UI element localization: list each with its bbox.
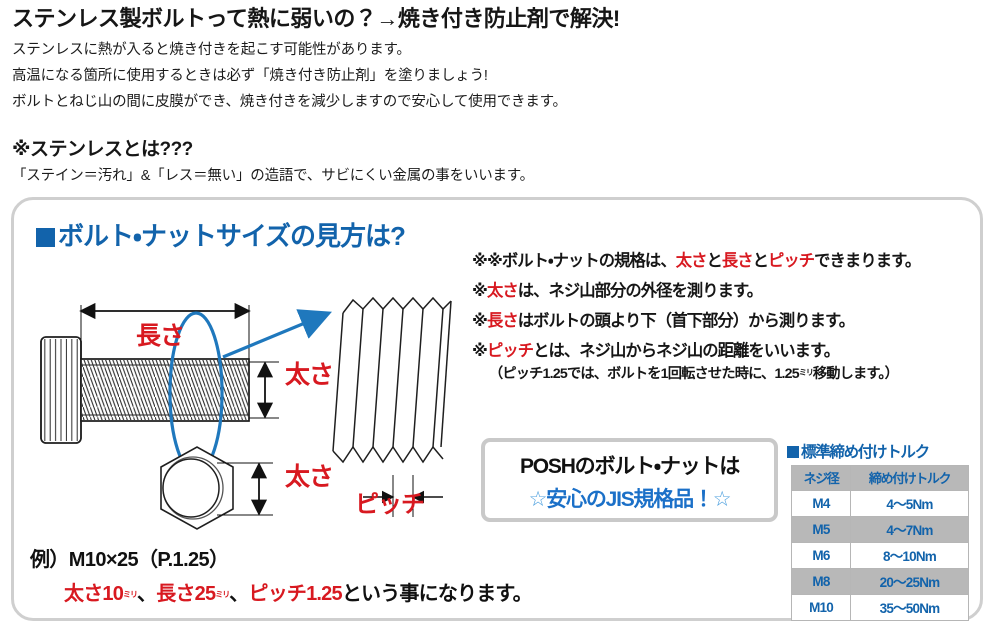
- example-thickness: 太さ10: [64, 583, 123, 605]
- torque-caption-label: 標準締め付けトルク: [801, 444, 929, 461]
- page-title: ステンレス製ボルトって熱に弱いの？→焼き付き防止剤で解決!: [12, 6, 987, 31]
- label-pitch: ピッチ: [355, 484, 424, 519]
- panel-title: ボルト・ナットサイズの見方は?: [36, 216, 405, 253]
- intro-paragraph-1: ステンレスに熱が入ると焼き付きを起こす可能性があります。: [12, 41, 987, 60]
- bullet-item-4-note: （ピッチ1.25では、ボルトを1回転させた時に、1.25ミリ移動します。）: [489, 367, 987, 383]
- example-block: 例）M10×25（P.1.25） 太さ10ミリ、長さ25ミリ、ピッチ1.25とい…: [30, 543, 532, 606]
- example-line-2: 太さ10ミリ、長さ25ミリ、ピッチ1.25という事になります。: [64, 577, 532, 606]
- example-length-unit: ミリ: [215, 590, 229, 599]
- bullet-4-text: とは、ネジ山からネジ山の距離をいいます。: [533, 342, 839, 360]
- cell-torque: 4〜5Nm: [851, 491, 969, 517]
- bullet-1-text-a: ※ボルト・ナットの規格は、: [487, 252, 676, 270]
- cell-size: M4: [792, 491, 851, 517]
- bullet-3-red-length: 長さ: [487, 312, 518, 330]
- torque-table-block: 標準締め付けトルク ネジ径 締め付けトルク M4 4〜5Nm M5 4〜7Nm …: [787, 440, 983, 621]
- bullet-marker-4: ※: [472, 342, 487, 360]
- spec-bullet-list: ※※ボルト・ナットの規格は、太さと長さとピッチできまります。 ※太さは、ネジ山部…: [472, 253, 987, 394]
- posh-line-1: POSHのボルト・ナットは: [485, 450, 774, 480]
- cell-size: M6: [792, 543, 851, 569]
- cell-size: M8: [792, 569, 851, 595]
- example-line-1: 例）M10×25（P.1.25）: [30, 543, 532, 572]
- bullet-4-note-b: 移動します。）: [813, 366, 898, 382]
- bullet-item-2: ※太さは、ネジ山部分の外径を測ります。: [472, 283, 987, 301]
- table-header-row: ネジ径 締め付けトルク: [792, 466, 969, 491]
- posh-jis-badge: POSHのボルト・ナットは ☆安心のJIS規格品！☆: [481, 438, 778, 522]
- bullet-1-text-d: できまります。: [814, 252, 920, 270]
- cell-torque: 20〜25Nm: [851, 569, 969, 595]
- bullet-4-note-a: （ピッチ1.25では、ボルトを1回転させた時に、1.25: [489, 366, 799, 382]
- bullet-item-4: ※ピッチとは、ネジ山からネジ山の距離をいいます。: [472, 343, 987, 361]
- bullet-1-text-c: と: [753, 252, 768, 270]
- bullet-3-text: はボルトの頭より下（首下部分）から測ります。: [518, 312, 854, 330]
- blue-square-bullet-icon: [787, 446, 799, 458]
- bullet-4-red-pitch: ピッチ: [487, 342, 533, 360]
- posh-line-2-label: 安心のJIS規格品！: [546, 488, 713, 511]
- header-tightening-torque: 締め付けトルク: [851, 466, 969, 491]
- bullet-1-text-b: と: [706, 252, 721, 270]
- cell-torque: 35〜50Nm: [851, 595, 969, 621]
- bullet-item-1: ※※ボルト・ナットの規格は、太さと長さとピッチできまります。: [472, 253, 987, 271]
- example-comma-2: 、: [229, 583, 248, 605]
- torque-table-caption: 標準締め付けトルク: [787, 440, 983, 462]
- table-row: M5 4〜7Nm: [792, 517, 969, 543]
- bullet-item-3: ※長さはボルトの頭より下（首下部分）から測ります。: [472, 313, 987, 331]
- bullet-1-red-thickness: 太さ: [676, 252, 707, 270]
- intro-paragraph-3: ボルトとねじ山の間に皮膜ができ、焼き付きを減少しますので安心して使用できます。: [12, 93, 987, 112]
- star-right-icon: ☆: [713, 488, 731, 511]
- intro-section: ステンレス製ボルトって熱に弱いの？→焼き付き防止剤で解決! ステンレスに熱が入る…: [12, 6, 987, 193]
- label-thickness-nut: 太さ: [285, 457, 333, 493]
- example-comma-1: 、: [137, 583, 156, 605]
- panel-title-label: ボルト・ナットサイズの見方は?: [58, 221, 405, 251]
- bullet-1-red-length: 長さ: [722, 252, 753, 270]
- bullet-marker-1: ※: [472, 252, 487, 270]
- posh-line-2: ☆安心のJIS規格品！☆: [485, 483, 774, 513]
- example-thickness-unit: ミリ: [123, 590, 137, 599]
- blue-square-bullet-icon: [36, 228, 55, 247]
- table-row: M8 20〜25Nm: [792, 569, 969, 595]
- label-thickness-bolt: 太さ: [285, 355, 333, 391]
- intro-paragraph-2: 高温になる箇所に使用するときは必ず「焼き付き防止剤」を塗りましょう!: [12, 67, 987, 86]
- label-length: 長さ: [136, 316, 184, 352]
- table-row: M6 8〜10Nm: [792, 543, 969, 569]
- bullet-2-text: は、ネジ山部分の外径を測ります。: [518, 282, 762, 300]
- example-length: 長さ25: [156, 583, 215, 605]
- example-pitch: ピッチ1.25: [249, 583, 342, 605]
- table-row: M10 35〜50Nm: [792, 595, 969, 621]
- cell-size: M10: [792, 595, 851, 621]
- star-left-icon: ☆: [529, 488, 547, 511]
- cell-torque: 4〜7Nm: [851, 517, 969, 543]
- example-tail: という事になります。: [342, 583, 532, 605]
- cell-size: M5: [792, 517, 851, 543]
- cell-torque: 8〜10Nm: [851, 543, 969, 569]
- table-row: M4 4〜5Nm: [792, 491, 969, 517]
- bullet-2-red-thickness: 太さ: [487, 282, 518, 300]
- intro-subheading: ※ステンレスとは???: [12, 134, 987, 161]
- header-screw-diameter: ネジ径: [792, 466, 851, 491]
- torque-table: ネジ径 締め付けトルク M4 4〜5Nm M5 4〜7Nm M6 8〜10Nm …: [791, 465, 969, 621]
- bullet-1-red-pitch: ピッチ: [768, 252, 814, 270]
- bullet-4-note-unit: ミリ: [799, 368, 813, 377]
- intro-paragraph-4: 「ステイン＝汚れ」&「レス＝無い」の造語で、サビにくい金属の事をいいます。: [12, 167, 987, 186]
- bullet-marker-3: ※: [472, 312, 487, 330]
- bullet-marker-2: ※: [472, 282, 487, 300]
